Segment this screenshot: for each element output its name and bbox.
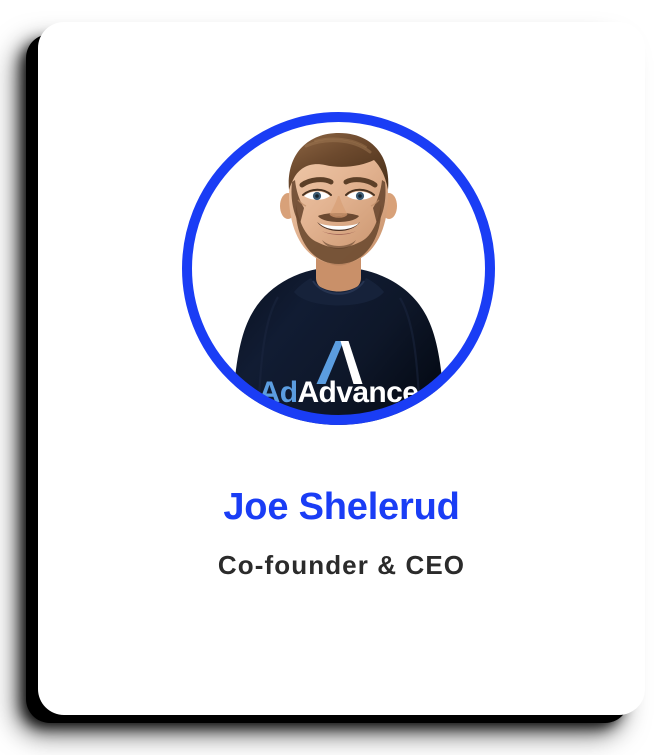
avatar-portrait: AdAdvance [182, 112, 495, 425]
svg-text:AdAdvance: AdAdvance [259, 376, 419, 409]
screenshot-stage: AdAdvance Joe Shelerud Co-founder & CEO [0, 0, 672, 755]
profile-card: AdAdvance Joe Shelerud Co-founder & CEO [38, 22, 645, 715]
avatar: AdAdvance [182, 112, 495, 425]
person-role: Co-founder & CEO [38, 548, 645, 582]
person-name: Joe Shelerud [38, 485, 645, 529]
avatar-image-clip: AdAdvance [182, 112, 495, 425]
